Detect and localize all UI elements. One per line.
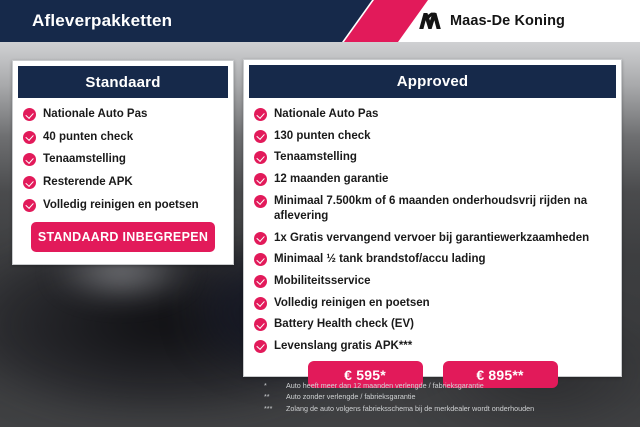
feature-label: Nationale Auto Pas — [274, 107, 378, 122]
feature-label: Minimaal 7.500km of 6 maanden onderhouds… — [274, 194, 611, 224]
feature-label: Volledig reinigen en poetsen — [43, 198, 199, 213]
standaard-inbegrepen-button[interactable]: STANDAARD INBEGREPEN — [31, 222, 215, 252]
check-circle-icon — [254, 297, 267, 310]
feature-label: Resterende APK — [43, 175, 133, 190]
check-circle-icon — [23, 153, 36, 166]
check-circle-icon — [254, 108, 267, 121]
list-item: Tenaamstelling — [254, 150, 611, 165]
check-circle-icon — [254, 275, 267, 288]
footnote-text: Zolang de auto volgens fabrieksschema bi… — [286, 404, 534, 414]
feature-label: 1x Gratis vervangend vervoer bij garanti… — [274, 231, 589, 246]
check-circle-icon — [254, 195, 267, 208]
list-item: Nationale Auto Pas — [254, 107, 611, 122]
card-body-approved: Nationale Auto Pas 130 punten check Tena… — [244, 98, 621, 388]
footnote-text: Auto heeft meer dan 12 maanden verlengde… — [286, 381, 484, 391]
check-circle-icon — [254, 232, 267, 245]
page-title: Afleverpakketten — [32, 0, 172, 42]
check-circle-icon — [23, 199, 36, 212]
check-circle-icon — [254, 130, 267, 143]
list-item: 12 maanden garantie — [254, 172, 611, 187]
check-circle-icon — [23, 108, 36, 121]
feature-list-approved: Nationale Auto Pas 130 punten check Tena… — [254, 107, 611, 354]
feature-label: 12 maanden garantie — [274, 172, 388, 187]
check-circle-icon — [23, 131, 36, 144]
feature-label: Minimaal ½ tank brandstof/accu lading — [274, 252, 486, 267]
check-circle-icon — [23, 176, 36, 189]
feature-label: Nationale Auto Pas — [43, 107, 147, 122]
list-item: Minimaal ½ tank brandstof/accu lading — [254, 252, 611, 267]
feature-label: 130 punten check — [274, 129, 371, 144]
list-item: Tenaamstelling — [23, 152, 223, 167]
list-item: Mobiliteitsservice — [254, 274, 611, 289]
list-item: Battery Health check (EV) — [254, 317, 611, 332]
brand-name: Maas-De Koning — [450, 13, 565, 29]
feature-label: Levenslang gratis APK*** — [274, 339, 412, 354]
footnote-row: * Auto heeft meer dan 12 maanden verleng… — [264, 381, 534, 391]
check-circle-icon — [254, 151, 267, 164]
check-circle-icon — [254, 173, 267, 186]
footnote-marker: * — [264, 381, 286, 391]
feature-label: Mobiliteitsservice — [274, 274, 371, 289]
list-item: Volledig reinigen en poetsen — [254, 296, 611, 311]
check-circle-icon — [254, 340, 267, 353]
package-card-approved: Approved Nationale Auto Pas 130 punten c… — [243, 59, 622, 377]
footnote-text: Auto zonder verlengde / fabrieksgarantie — [286, 392, 415, 402]
list-item: Nationale Auto Pas — [23, 107, 223, 122]
feature-label: Battery Health check (EV) — [274, 317, 414, 332]
brand-logo: Maas-De Koning — [418, 0, 565, 42]
card-heading-standaard: Standaard — [18, 66, 228, 98]
footnote-marker: *** — [264, 404, 286, 414]
list-item: 40 punten check — [23, 130, 223, 145]
list-item: Volledig reinigen en poetsen — [23, 198, 223, 213]
feature-label: Volledig reinigen en poetsen — [274, 296, 430, 311]
footnote-marker: ** — [264, 392, 286, 402]
feature-label: Tenaamstelling — [274, 150, 357, 165]
feature-label: 40 punten check — [43, 130, 133, 145]
list-item: 130 punten check — [254, 129, 611, 144]
footnote-row: *** Zolang de auto volgens fabrieksschem… — [264, 404, 534, 414]
slide-root: Afleverpakketten Maas-De Koning Standaar… — [0, 0, 640, 427]
list-item: 1x Gratis vervangend vervoer bij garanti… — [254, 231, 611, 246]
check-circle-icon — [254, 253, 267, 266]
check-circle-icon — [254, 318, 267, 331]
feature-label: Tenaamstelling — [43, 152, 126, 167]
feature-list-standaard: Nationale Auto Pas 40 punten check Tenaa… — [23, 107, 223, 213]
footnote-list: * Auto heeft meer dan 12 maanden verleng… — [264, 381, 534, 414]
footnote-row: ** Auto zonder verlengde / fabrieksgaran… — [264, 392, 534, 402]
list-item: Resterende APK — [23, 175, 223, 190]
list-item: Minimaal 7.500km of 6 maanden onderhouds… — [254, 194, 611, 224]
package-card-standaard: Standaard Nationale Auto Pas 40 punten c… — [12, 60, 234, 265]
card-heading-approved: Approved — [249, 65, 616, 98]
list-item: Levenslang gratis APK*** — [254, 339, 611, 354]
card-body-standaard: Nationale Auto Pas 40 punten check Tenaa… — [13, 98, 233, 252]
maas-de-koning-m-icon — [418, 12, 442, 30]
page-header: Afleverpakketten Maas-De Koning — [0, 0, 640, 42]
